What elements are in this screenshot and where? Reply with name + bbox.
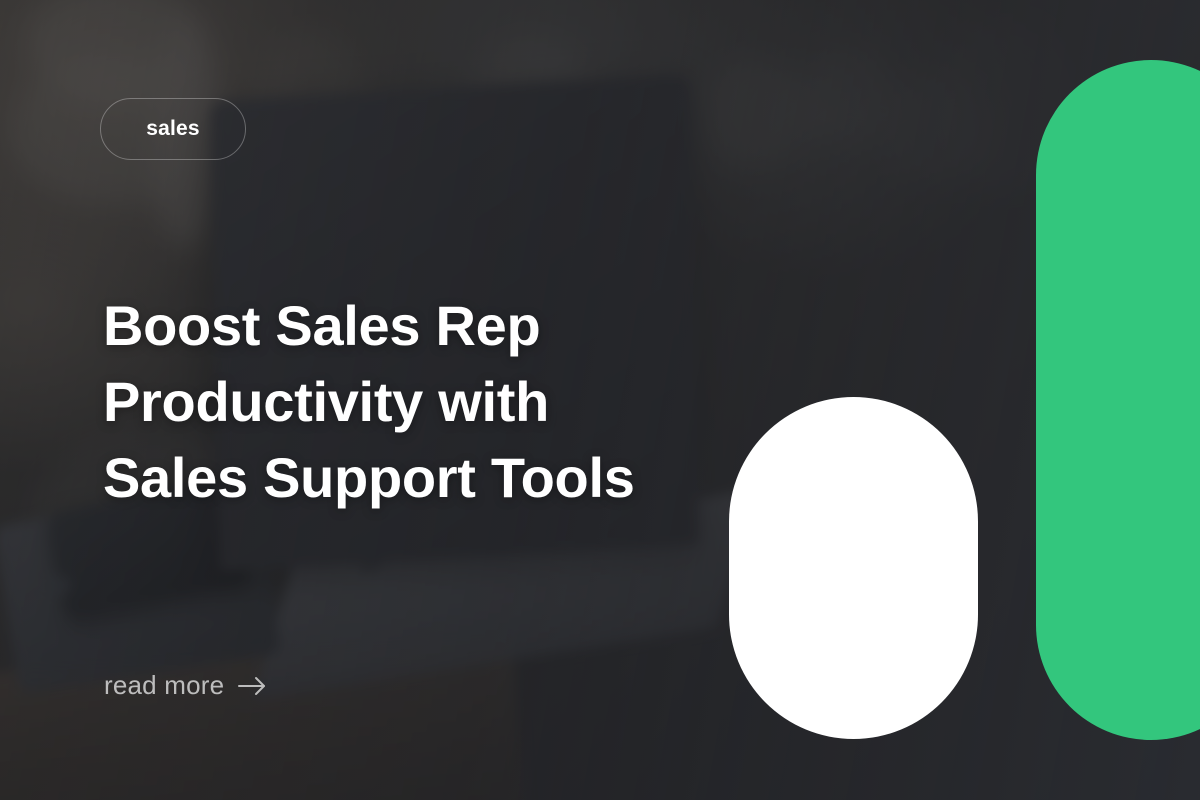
category-badge-label: sales	[146, 117, 200, 141]
read-more-label: read more	[104, 670, 224, 701]
page-title-line-3: Sales Support Tools	[103, 446, 635, 509]
page-title-line-1: Boost Sales Rep	[103, 294, 540, 357]
read-more-link[interactable]: read more	[104, 670, 268, 701]
card-content: sales Boost Sales Rep Productivity with …	[0, 0, 1200, 800]
arrow-right-icon	[238, 675, 268, 697]
page-title-line-2: Productivity with	[103, 370, 549, 433]
blog-promo-card: sales Boost Sales Rep Productivity with …	[0, 0, 1200, 800]
page-title: Boost Sales Rep Productivity with Sales …	[103, 288, 723, 516]
category-badge[interactable]: sales	[100, 98, 246, 160]
